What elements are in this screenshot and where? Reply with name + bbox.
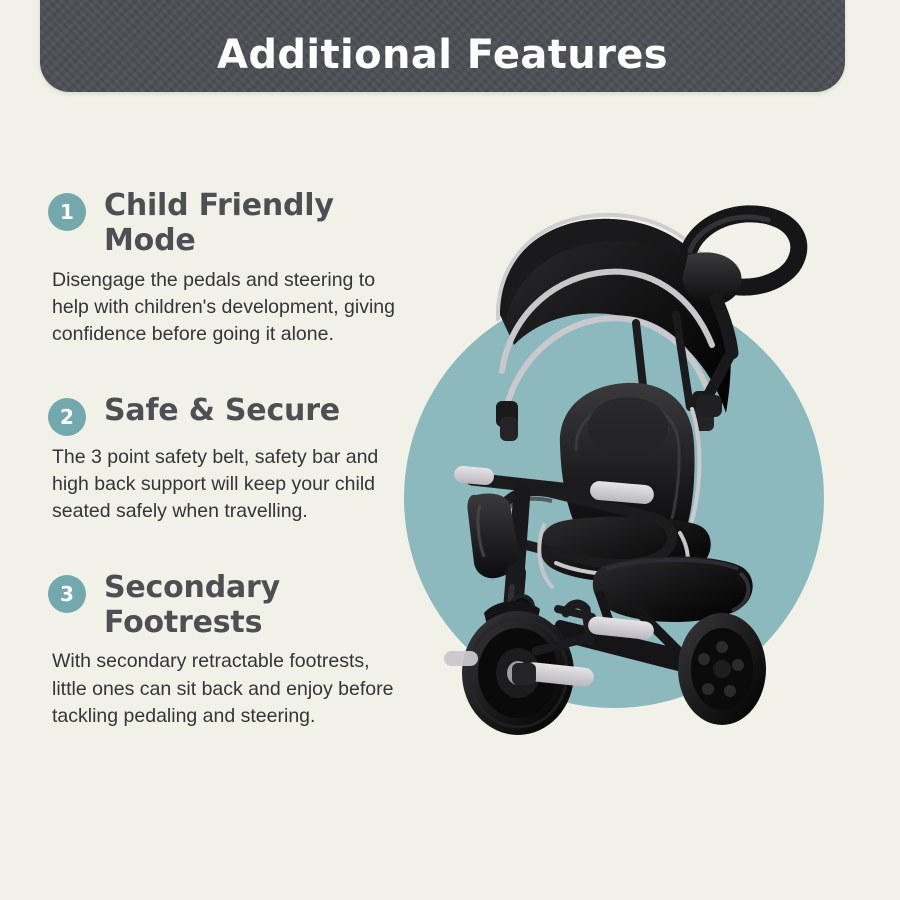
page-title: Additional Features [40, 32, 845, 78]
feature-1-header: 1 Child Friendly Mode [48, 188, 408, 259]
product-image-tricycle [440, 195, 860, 735]
feature-3-number-badge: 3 [48, 575, 86, 613]
feature-2-title: Safe & Secure [104, 393, 340, 428]
feature-2-header: 2 Safe & Secure [48, 393, 408, 436]
infographic-page: Additional Features [0, 0, 900, 900]
feature-2-description: The 3 point safety belt, safety bar and … [48, 444, 400, 526]
header-banner: Additional Features [40, 0, 845, 92]
feature-1-description: Disengage the pedals and steering to hel… [48, 267, 400, 349]
feature-3-header: 3 Secondary Footrests [48, 570, 408, 641]
feature-2-number-badge: 2 [48, 398, 86, 436]
feature-item-2: 2 Safe & Secure The 3 point safety belt,… [48, 393, 408, 526]
features-list: 1 Child Friendly Mode Disengage the peda… [48, 188, 408, 754]
feature-item-1: 1 Child Friendly Mode Disengage the peda… [48, 188, 408, 349]
feature-3-title: Secondary Footrests [104, 570, 408, 641]
feature-1-title: Child Friendly Mode [104, 188, 408, 259]
feature-1-number-badge: 1 [48, 193, 86, 231]
feature-item-3: 3 Secondary Footrests With secondary ret… [48, 570, 408, 731]
feature-3-description: With secondary retractable footrests, li… [48, 648, 400, 730]
